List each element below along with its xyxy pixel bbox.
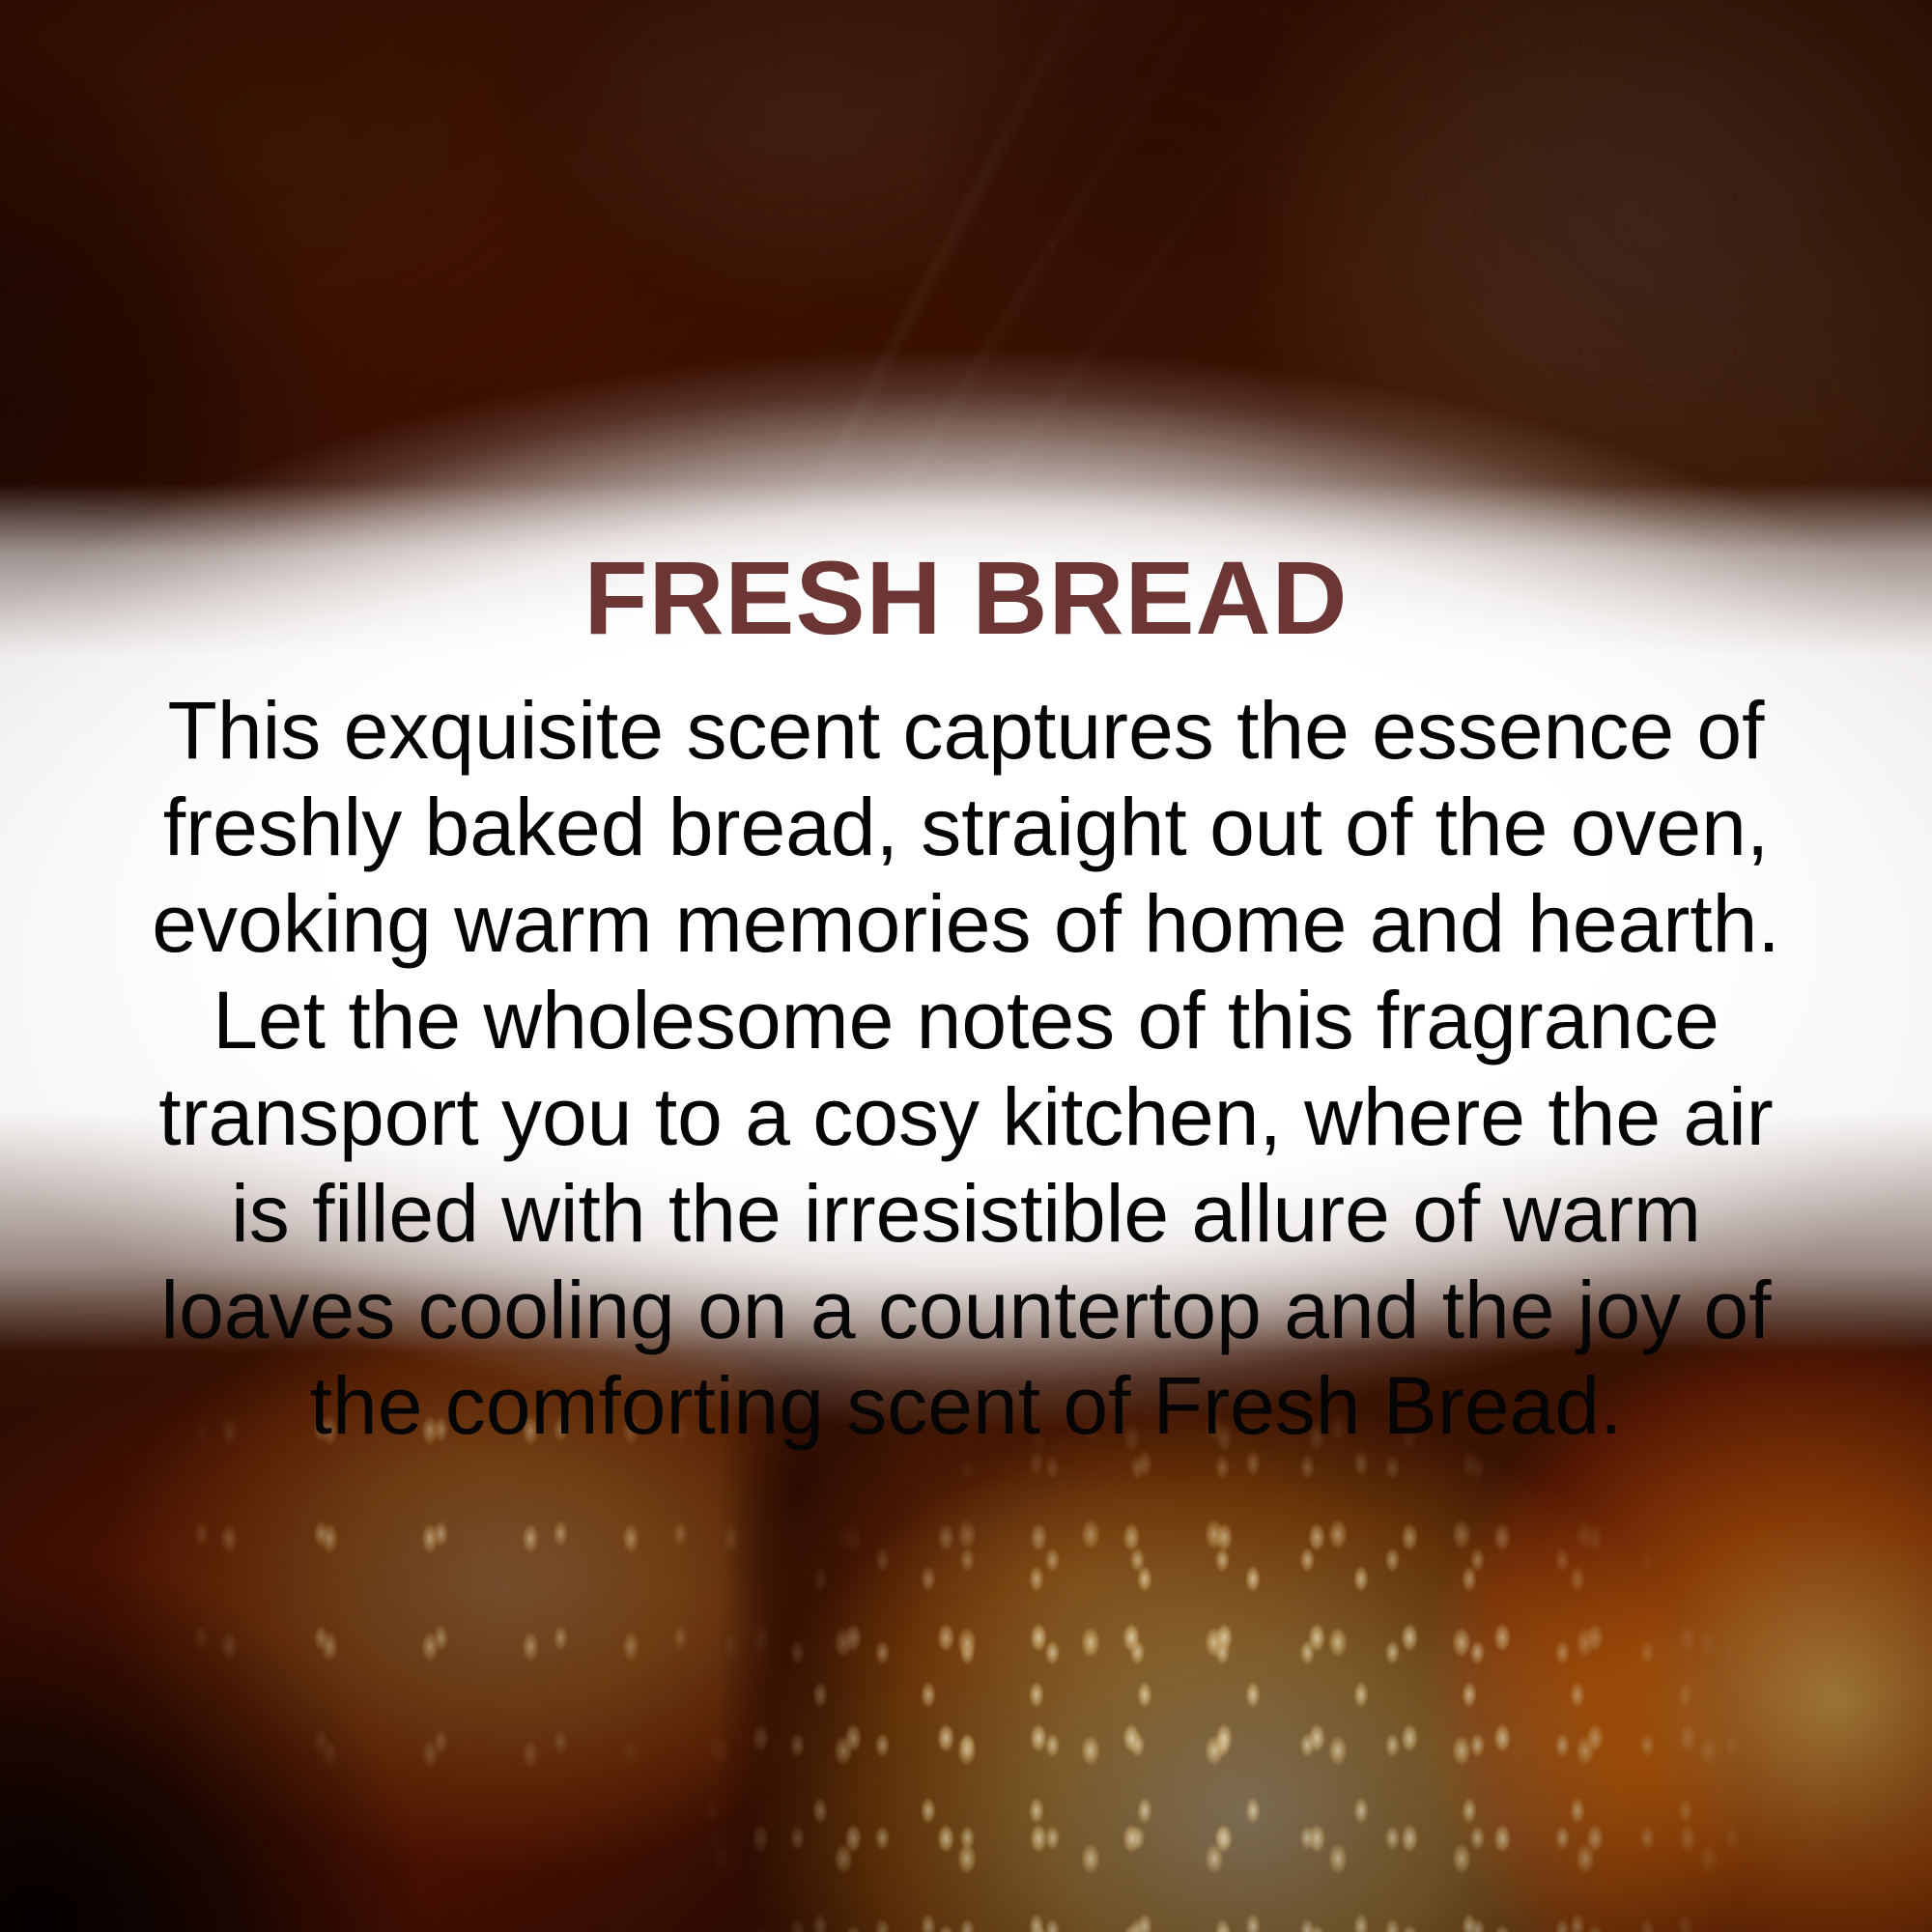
card-content: FRESH BREAD This exquisite scent capture… — [0, 541, 1932, 1455]
fresh-bread-product-card: FRESH BREAD This exquisite scent capture… — [0, 0, 1932, 1932]
product-description: This exquisite scent captures the essenc… — [0, 683, 1932, 1456]
page-title: FRESH BREAD — [0, 541, 1932, 656]
